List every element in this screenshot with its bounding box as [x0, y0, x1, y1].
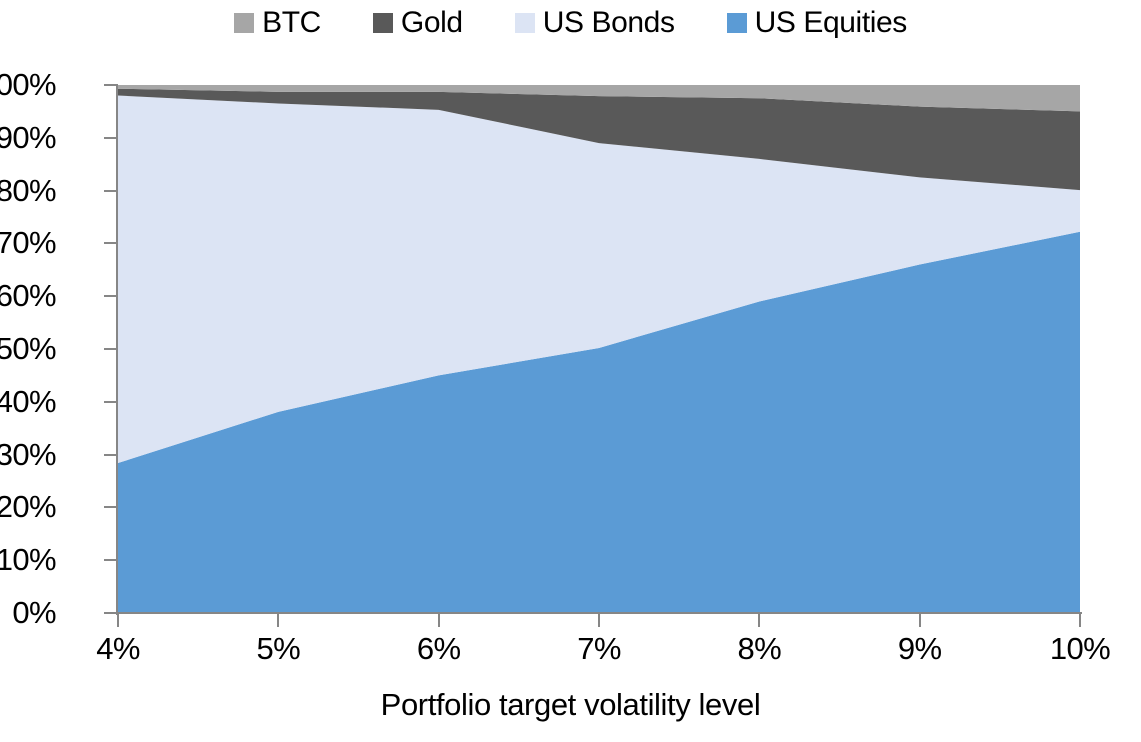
y-tick-label: 70% [0, 227, 56, 258]
x-tick-label: 4% [96, 633, 140, 664]
legend-label-us-bonds: US Bonds [543, 8, 675, 38]
y-tick-mark [104, 401, 117, 403]
legend-item-us-equities[interactable]: US Equities [727, 8, 907, 38]
y-tick-label: 50% [0, 333, 56, 364]
legend-item-us-bonds[interactable]: US Bonds [515, 8, 675, 38]
x-tick-label: 10% [1050, 633, 1110, 664]
x-tick-label: 8% [738, 633, 782, 664]
y-tick-mark [104, 295, 117, 297]
stacked-area-chart: BTC Gold US Bonds US Equities 0%10%20%30… [0, 0, 1141, 742]
y-tick-mark [104, 190, 117, 192]
y-tick-label: 30% [0, 439, 56, 470]
legend-swatch-btc [234, 13, 254, 33]
y-tick-mark [104, 559, 117, 561]
legend-label-btc: BTC [262, 8, 321, 38]
y-tick-mark [104, 137, 117, 139]
legend-item-gold[interactable]: Gold [373, 8, 463, 38]
legend-label-gold: Gold [401, 8, 463, 38]
legend-swatch-us-bonds [515, 13, 535, 33]
legend-item-btc[interactable]: BTC [234, 8, 321, 38]
y-tick-label: 20% [0, 491, 56, 522]
x-tick-label: 6% [417, 633, 461, 664]
x-axis-title: Portfolio target volatility level [0, 688, 1141, 722]
legend-swatch-gold [373, 13, 393, 33]
y-tick-mark [104, 242, 117, 244]
y-tick-label: 60% [0, 280, 56, 311]
y-tick-mark [104, 506, 117, 508]
x-tick-mark [1079, 613, 1081, 627]
y-tick-mark [104, 84, 117, 86]
chart-legend: BTC Gold US Bonds US Equities [0, 8, 1141, 38]
area-series-svg [118, 85, 1080, 613]
y-tick-mark [104, 348, 117, 350]
x-tick-mark [117, 613, 119, 627]
x-tick-mark [438, 613, 440, 627]
y-tick-label: 90% [0, 122, 56, 153]
x-tick-mark [277, 613, 279, 627]
y-tick-label: 80% [0, 175, 56, 206]
y-tick-label: 40% [0, 386, 56, 417]
legend-label-us-equities: US Equities [755, 8, 907, 38]
x-tick-mark [758, 613, 760, 627]
y-tick-label: 0% [12, 597, 56, 628]
y-tick-mark [104, 454, 117, 456]
x-tick-label: 5% [257, 633, 301, 664]
y-tick-mark [104, 612, 117, 614]
legend-swatch-us-equities [727, 13, 747, 33]
x-tick-mark [598, 613, 600, 627]
x-tick-label: 7% [577, 633, 621, 664]
x-tick-label: 9% [898, 633, 942, 664]
x-tick-mark [919, 613, 921, 627]
y-tick-label: 100% [0, 69, 56, 100]
y-tick-label: 10% [0, 544, 56, 575]
plot-area [118, 85, 1080, 613]
